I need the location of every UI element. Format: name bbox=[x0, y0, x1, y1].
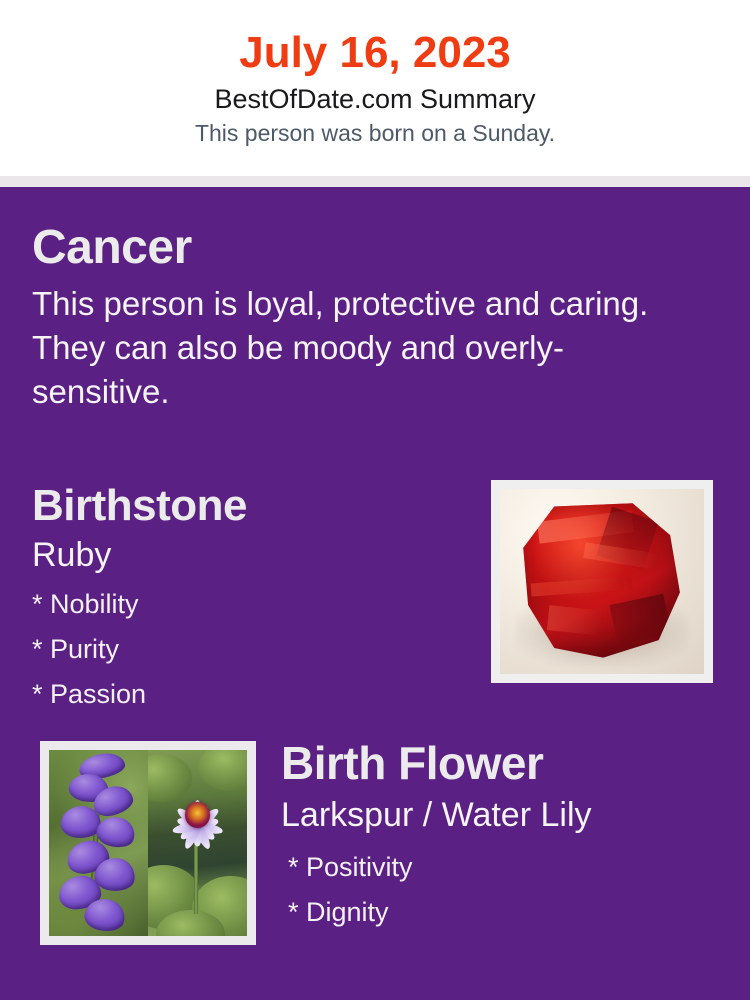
header: July 16, 2023 BestOfDate.com Summary Thi… bbox=[0, 0, 750, 176]
ruby-facet bbox=[531, 576, 633, 596]
list-item: * Positivity bbox=[288, 845, 721, 890]
page-title-date: July 16, 2023 bbox=[0, 0, 750, 79]
birthstone-section: Birthstone Ruby * Nobility * Purity * Pa… bbox=[32, 480, 462, 717]
birth-flower-image-frame bbox=[40, 741, 256, 945]
birth-flower-trait-list: * Positivity * Dignity bbox=[281, 837, 721, 935]
site-summary-label: BestOfDate.com Summary bbox=[0, 79, 750, 116]
birth-flower-name: Larkspur / Water Lily bbox=[281, 791, 721, 837]
list-item: * Nobility bbox=[32, 582, 462, 627]
summary-card: July 16, 2023 BestOfDate.com Summary Thi… bbox=[0, 0, 750, 1000]
header-divider bbox=[0, 176, 750, 187]
ruby-facet bbox=[547, 605, 605, 636]
zodiac-sign-title: Cancer bbox=[32, 220, 652, 276]
larkspur-and-water-lily-photo bbox=[49, 750, 247, 936]
birth-flower-heading: Birth Flower bbox=[281, 735, 721, 791]
birth-flower-section: Birth Flower Larkspur / Water Lily * Pos… bbox=[281, 735, 721, 935]
water-lily-bloom bbox=[166, 783, 229, 846]
birthstone-image-frame bbox=[491, 480, 713, 683]
birthstone-heading: Birthstone bbox=[32, 480, 462, 532]
lily-center bbox=[185, 802, 209, 827]
water-lily-photo bbox=[148, 750, 247, 936]
birth-day-note: This person was born on a Sunday. bbox=[0, 116, 750, 147]
birthstone-trait-list: * Nobility * Purity * Passion bbox=[32, 576, 462, 717]
ruby-crystal-photo bbox=[500, 489, 704, 674]
larkspur-photo bbox=[49, 750, 148, 936]
zodiac-description: This person is loyal, protective and car… bbox=[32, 276, 652, 414]
birthstone-name: Ruby bbox=[32, 532, 462, 576]
zodiac-section: Cancer This person is loyal, protective … bbox=[32, 220, 652, 414]
list-item: * Passion bbox=[32, 672, 462, 717]
list-item: * Dignity bbox=[288, 890, 721, 935]
list-item: * Purity bbox=[32, 627, 462, 672]
